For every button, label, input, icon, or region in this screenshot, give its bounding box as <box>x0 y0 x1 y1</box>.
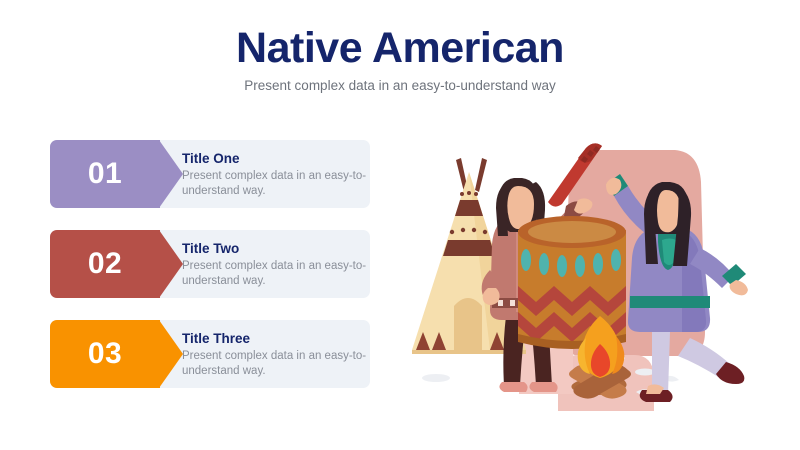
list-item-description: Present complex data in an easy-to-under… <box>182 349 372 379</box>
list-item-number-badge: 03 <box>50 320 160 388</box>
list-item-number: 02 <box>88 247 122 281</box>
list-item[interactable]: 02 Title Two Present complex data in an … <box>50 230 380 298</box>
list-item-number: 03 <box>88 337 122 371</box>
list-item-title: Title Two <box>182 241 372 256</box>
slide-canvas: Native American Present complex data in … <box>0 0 800 450</box>
list-item[interactable]: 03 Title Three Present complex data in a… <box>50 320 380 388</box>
list-item[interactable]: 01 Title One Present complex data in an … <box>50 140 380 208</box>
list-item-title: Title One <box>182 151 372 166</box>
list-item-description: Present complex data in an easy-to-under… <box>182 259 372 289</box>
illustration <box>390 120 790 420</box>
list-item-number-badge: 01 <box>50 140 160 208</box>
page-subtitle: Present complex data in an easy-to-under… <box>0 78 800 93</box>
page-title: Native American <box>0 26 800 71</box>
list-item-description: Present complex data in an easy-to-under… <box>182 169 372 199</box>
list-item-text-block: Title Two Present complex data in an eas… <box>182 241 372 289</box>
list-item-title: Title Three <box>182 331 372 346</box>
numbered-list: 01 Title One Present complex data in an … <box>50 140 380 410</box>
list-item-text-block: Title One Present complex data in an eas… <box>182 151 372 199</box>
list-item-text-block: Title Three Present complex data in an e… <box>182 331 372 379</box>
list-item-number: 01 <box>88 157 122 191</box>
slide-header: Native American Present complex data in … <box>0 26 800 93</box>
list-item-number-badge: 02 <box>50 230 160 298</box>
